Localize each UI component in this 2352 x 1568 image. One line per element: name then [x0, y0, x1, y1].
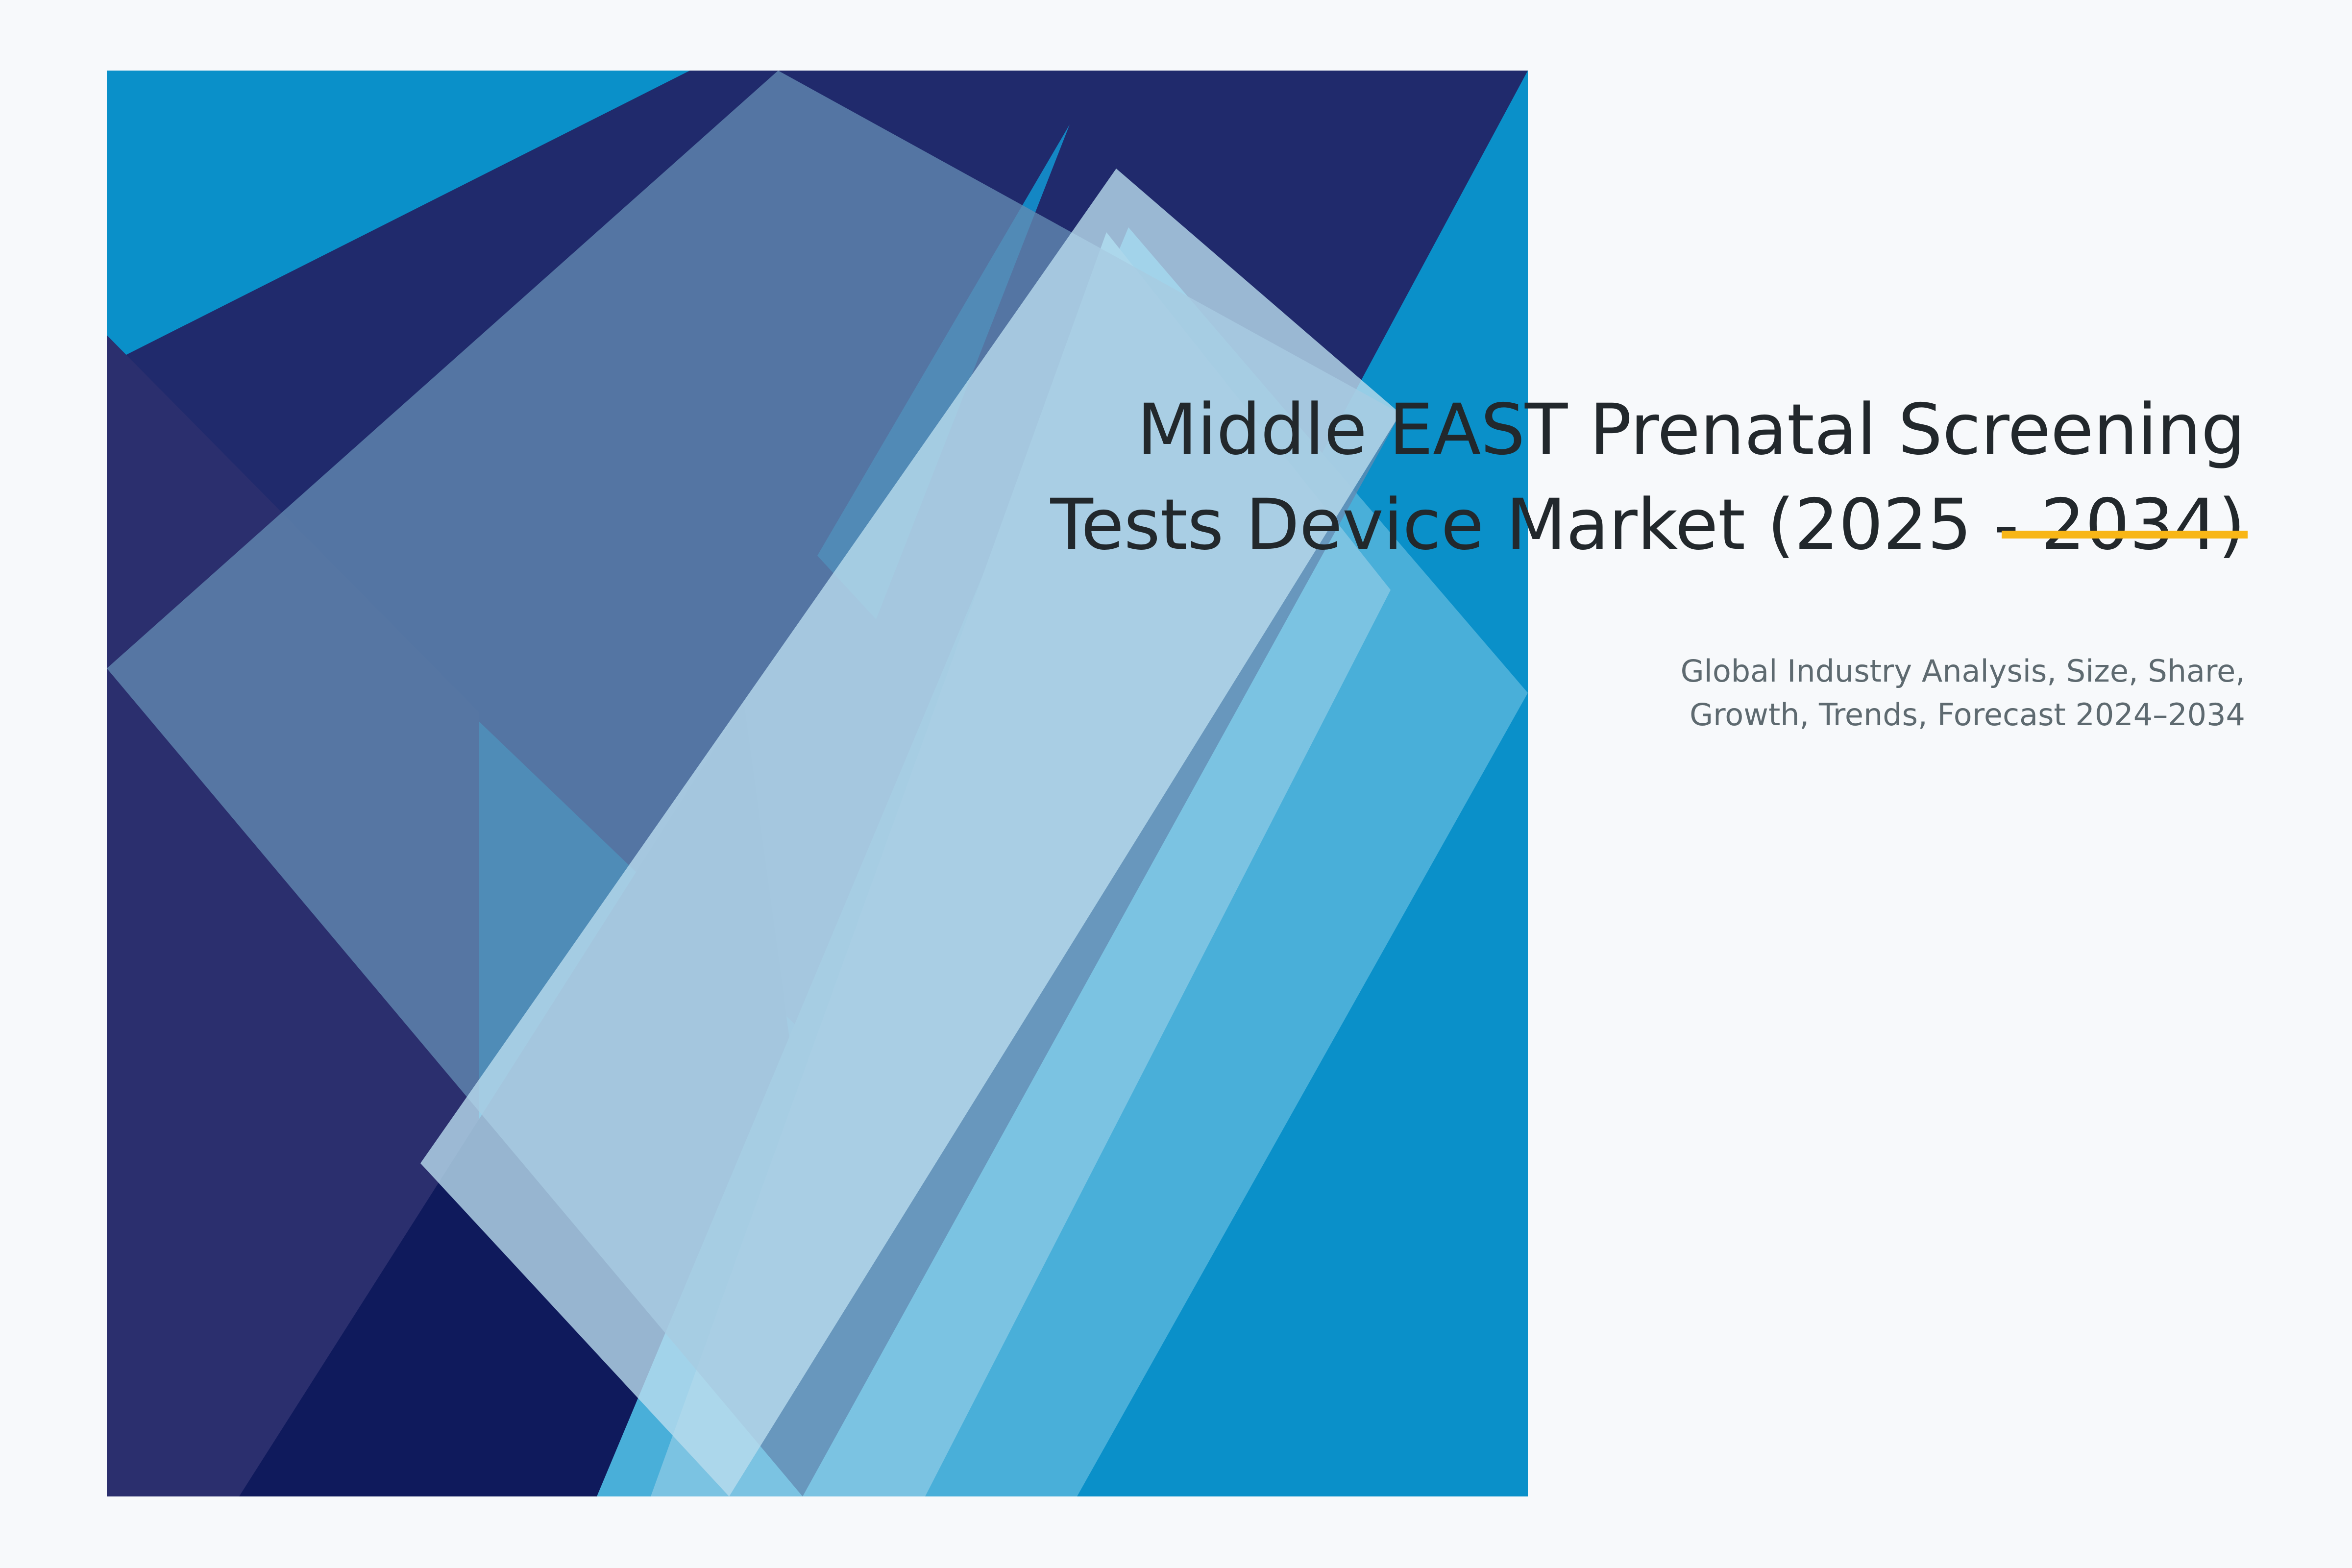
title-underline-bar	[2002, 531, 2248, 539]
title-underline	[2002, 531, 2248, 539]
abstract-geometric-cover-graphic	[107, 71, 1528, 1496]
report-cover-page: Middle EAST Prenatal Screening Tests Dev…	[0, 0, 2352, 1568]
title-block: Middle EAST Prenatal Screening Tests Dev…	[1004, 382, 2245, 573]
page-title: Middle EAST Prenatal Screening Tests Dev…	[1004, 382, 2245, 573]
page-subtitle: Global Industry Analysis, Size, Share, G…	[1421, 649, 2245, 737]
subtitle-block: Global Industry Analysis, Size, Share, G…	[1421, 649, 2245, 737]
